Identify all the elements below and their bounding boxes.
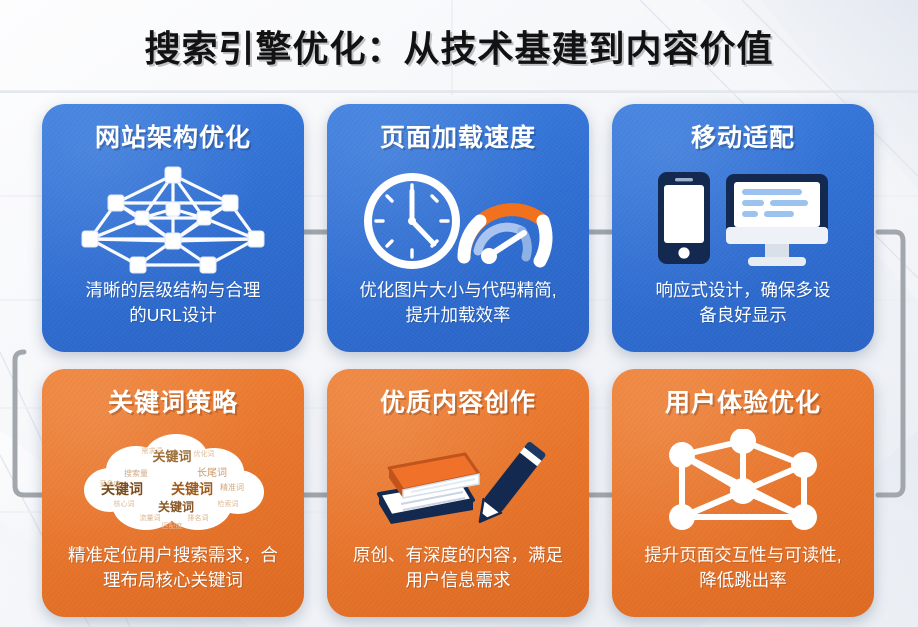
card-description: 优化图片大小与代码精简, 提升加载效率 [359,278,556,340]
speedometer-white-arc [540,221,546,261]
card-title: 网站架构优化 [95,118,251,154]
card-title: 关键词策略 [108,383,238,419]
svg-text:精准词: 精准词 [220,482,244,492]
svg-text:关键词: 关键词 [171,481,213,497]
card-page-speed[interactable]: 页面加载速度 [327,104,589,352]
svg-text:需求词: 需求词 [142,446,163,455]
clock-speedometer-icon [339,160,577,278]
word-cloud-icon: 关键词 关键词 关键词 关键词 长尾词 搜索量 竞争度 精准词 流量词 排名词 … [54,425,292,543]
card-description: 清晰的层级结构与合理 的URL设计 [86,278,261,340]
card-mobile-adaptation[interactable]: 移动适配 [612,104,874,352]
card-user-experience[interactable]: 用户体验优化 [612,369,874,617]
card-description: 原创、有深度的内容，满足 用户信息需求 [353,543,563,605]
card-site-architecture[interactable]: 网站架构优化 [42,104,304,352]
svg-text:长尾词: 长尾词 [197,467,227,479]
card-title: 移动适配 [691,118,795,154]
card-content-creation[interactable]: 优质内容创作 [327,369,589,617]
card-description: 精准定位用户搜索需求，合 理布局核心关键词 [68,543,278,605]
svg-text:核心词: 核心词 [114,499,135,508]
svg-text:优化词: 优化词 [194,449,215,458]
card-title: 页面加载速度 [380,118,536,154]
connector-left-wrap [15,352,42,495]
card-title: 优质内容创作 [380,383,536,419]
page-title: 搜索引擎优化：从技术基建到内容价值 [144,20,773,72]
node-graph-icon [624,425,862,543]
title-bar: 搜索引擎优化：从技术基建到内容价值 [0,0,918,92]
svg-text:检索词: 检索词 [218,499,239,508]
svg-text:匹配度: 匹配度 [162,521,183,530]
svg-text:搜索量: 搜索量 [124,468,148,478]
svg-text:流量词: 流量词 [140,513,161,522]
network-mesh-icon [54,160,292,278]
card-grid: 网站架构优化 [42,104,876,612]
phone-monitor-icon [624,160,862,278]
svg-text:关键词: 关键词 [158,499,194,514]
svg-text:竞争度: 竞争度 [100,479,121,488]
books-pencil-icon [339,425,577,543]
card-title: 用户体验优化 [665,383,821,419]
connector-card3-card6 [878,232,903,495]
card-description: 响应式设计，确保多设 备良好显示 [656,278,831,340]
svg-text:排名词: 排名词 [188,513,209,522]
card-description: 提升页面交互性与可读性, 降低跳出率 [644,543,841,605]
card-keyword-strategy[interactable]: 关键词策略 关键词 关键词 关键词 关键词 长 [42,369,304,617]
